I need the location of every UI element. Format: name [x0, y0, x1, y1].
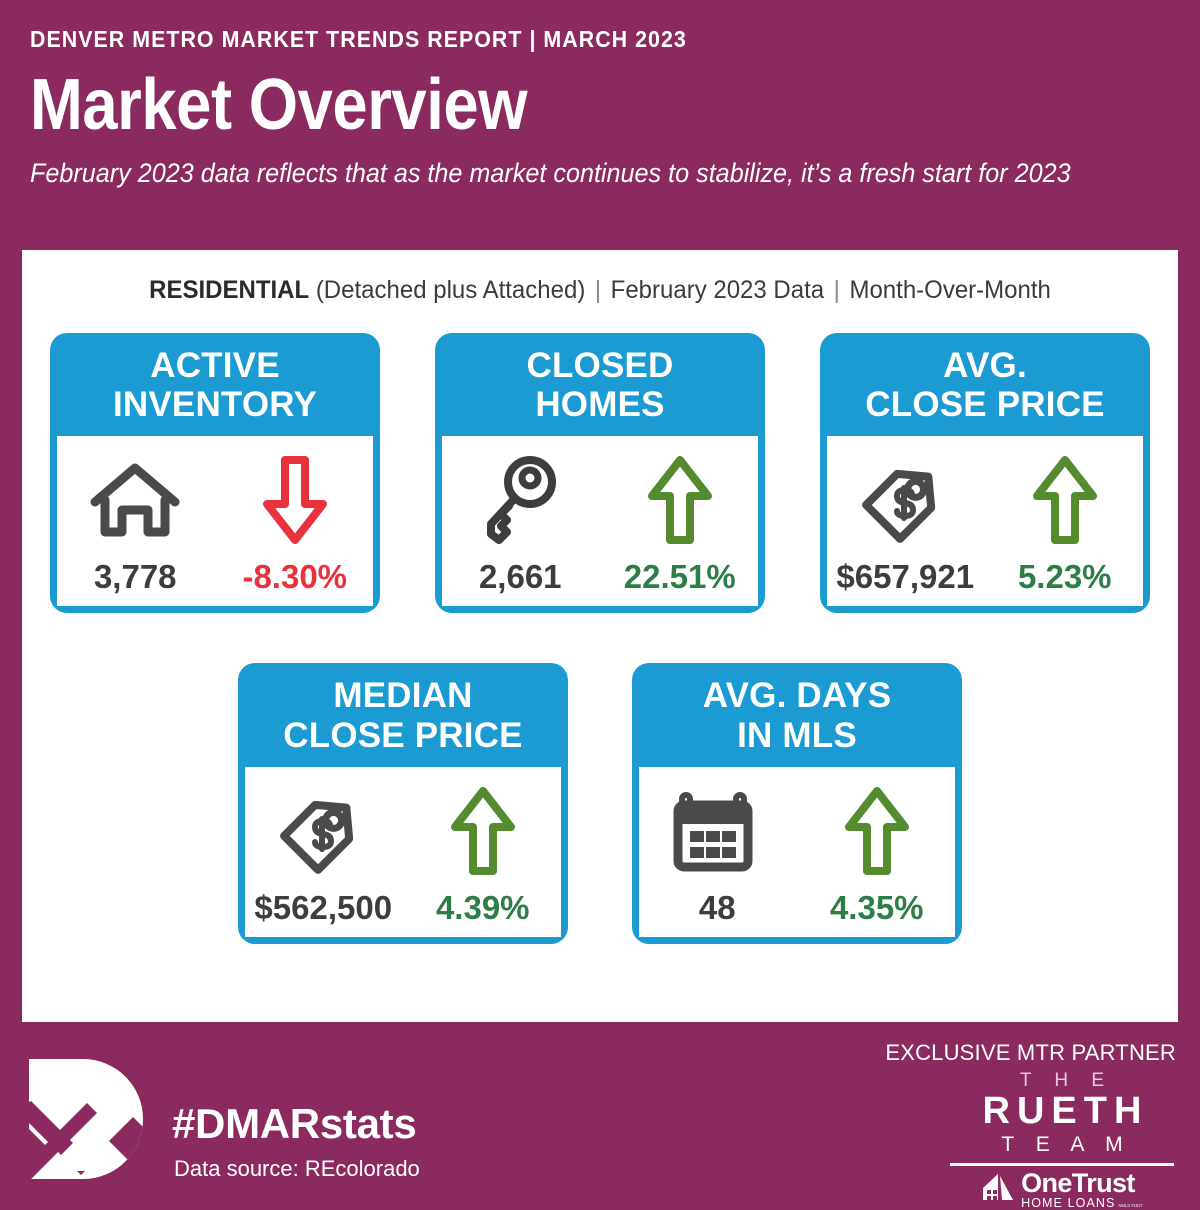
stats-panel: RESIDENTIAL (Detached plus Attached) | F…: [22, 250, 1178, 1022]
panel-subheading-paren: (Detached plus Attached): [309, 276, 592, 304]
stat-card-avg-close-price[interactable]: AVG. CLOSE PRICE: [820, 333, 1150, 613]
rueth-name-text: RUETH: [948, 1092, 1176, 1132]
arrow-up-icon: [841, 781, 913, 881]
panel-subheading-sep-2: |: [831, 276, 843, 304]
card-trend-value: -8.30%: [242, 558, 347, 596]
card-title-line-1: CLOSED: [443, 346, 757, 385]
card-title-line-2: IN MLS: [640, 716, 954, 755]
onetrust-fine-print: NMLS #1827: [1118, 1204, 1142, 1208]
card-title-avg-close-price: AVG. CLOSE PRICE: [820, 333, 1150, 436]
stat-card-active-inventory[interactable]: ACTIVE INVENTORY 3,778: [50, 333, 380, 613]
panel-subheading-end: Month-Over-Month: [843, 276, 1051, 304]
arrow-up-icon: [644, 450, 716, 550]
card-title-line-2: HOMES: [443, 385, 757, 424]
arrow-up-icon: [447, 781, 519, 881]
card-value: 48: [699, 889, 736, 927]
card-trend-value: 4.35%: [830, 889, 924, 927]
onetrust-subtitle: HOME LOANS NMLS #1827: [1021, 1197, 1143, 1210]
card-trend-value: 22.51%: [624, 558, 736, 596]
arrow-down-icon: [259, 450, 331, 550]
panel-subheading-strong: RESIDENTIAL: [149, 276, 309, 304]
card-value-cell: $657,921: [827, 436, 984, 606]
report-kicker: DENVER METRO MARKET TRENDS REPORT | MARC…: [30, 26, 1090, 53]
stat-card-closed-homes[interactable]: CLOSED HOMES 2,661: [435, 333, 765, 613]
card-value: 3,778: [94, 558, 177, 596]
card-trend-cell: 22.51%: [602, 436, 759, 606]
footer: #DMARstats Data source: REcolorado EXCLU…: [0, 1022, 1200, 1200]
house-icon: [89, 450, 181, 550]
stat-card-row-2: MEDIAN CLOSE PRICE: [22, 663, 1178, 943]
card-value: $562,500: [254, 889, 392, 927]
card-title-active-inventory: ACTIVE INVENTORY: [50, 333, 380, 436]
card-body: $562,500 4.39%: [245, 767, 561, 937]
card-title-line-1: ACTIVE: [58, 346, 372, 385]
onetrust-subtitle-text: HOME LOANS: [1021, 1197, 1115, 1210]
report-header: DENVER METRO MARKET TRENDS REPORT | MARC…: [0, 0, 1200, 190]
card-trend-cell: 4.39%: [405, 767, 562, 937]
card-value: 2,661: [479, 558, 562, 596]
stat-card-avg-days-in-mls[interactable]: AVG. DAYS IN MLS: [632, 663, 962, 943]
card-body: 48 4.35%: [639, 767, 955, 937]
card-trend-value: 5.23%: [1018, 558, 1112, 596]
card-title-line-1: AVG. DAYS: [640, 676, 954, 715]
key-icon: [477, 450, 563, 550]
data-source-label: Data source: REcolorado: [174, 1156, 420, 1182]
card-title-line-1: AVG.: [828, 346, 1142, 385]
card-trend-value: 4.39%: [436, 889, 530, 927]
card-title-median-close-price: MEDIAN CLOSE PRICE: [238, 663, 568, 766]
partner-label: EXCLUSIVE MTR PARTNER: [885, 1040, 1176, 1066]
page-title: Market Overview: [30, 69, 1033, 141]
price-tag-icon: [276, 781, 370, 881]
card-trend-cell: 4.35%: [799, 767, 956, 937]
card-trend-cell: 5.23%: [987, 436, 1144, 606]
card-value-cell: 2,661: [442, 436, 599, 606]
calendar-icon: [670, 781, 764, 881]
panel-subheading: RESIDENTIAL (Detached plus Attached) | F…: [45, 250, 1155, 305]
card-body: 2,661 22.51%: [442, 436, 758, 606]
card-title-closed-homes: CLOSED HOMES: [435, 333, 765, 436]
page-subtitle: February 2023 data reflects that as the …: [30, 157, 1113, 190]
hashtag-label: #DMARstats: [172, 1100, 416, 1148]
price-tag-icon: [858, 450, 952, 550]
card-value: $657,921: [836, 558, 974, 596]
panel-subheading-sep-1: |: [592, 276, 604, 304]
onetrust-house-icon: [981, 1172, 1017, 1207]
panel-subheading-mid: February 2023 Data: [604, 276, 831, 304]
onetrust-logo: OneTrust HOME LOANS NMLS #1827: [948, 1170, 1176, 1210]
card-title-line-2: CLOSE PRICE: [828, 385, 1142, 424]
card-value-cell: 3,778: [57, 436, 214, 606]
onetrust-text: OneTrust HOME LOANS NMLS #1827: [1021, 1170, 1143, 1210]
card-title-line-2: INVENTORY: [58, 385, 372, 424]
stat-card-median-close-price[interactable]: MEDIAN CLOSE PRICE: [238, 663, 568, 943]
stat-card-row-1: ACTIVE INVENTORY 3,778: [22, 333, 1178, 613]
rueth-the-text: T H E: [948, 1070, 1176, 1092]
rueth-team-text: T E A M: [948, 1132, 1176, 1158]
dmar-logo-icon: [27, 1057, 149, 1187]
card-body: $657,921 5.23%: [827, 436, 1143, 606]
card-title-line-2: CLOSE PRICE: [246, 716, 560, 755]
card-value-cell: 48: [639, 767, 796, 937]
logo-divider: [950, 1163, 1174, 1166]
rueth-team-logo: T H E RUETH T E A M OneTrust HOME LOANS: [948, 1070, 1176, 1210]
card-trend-cell: -8.30%: [217, 436, 374, 606]
onetrust-name: OneTrust: [1021, 1168, 1135, 1198]
arrow-up-icon: [1029, 450, 1101, 550]
card-body: 3,778 -8.30%: [57, 436, 373, 606]
card-title-avg-days-in-mls: AVG. DAYS IN MLS: [632, 663, 962, 766]
card-title-line-1: MEDIAN: [246, 676, 560, 715]
card-value-cell: $562,500: [245, 767, 402, 937]
